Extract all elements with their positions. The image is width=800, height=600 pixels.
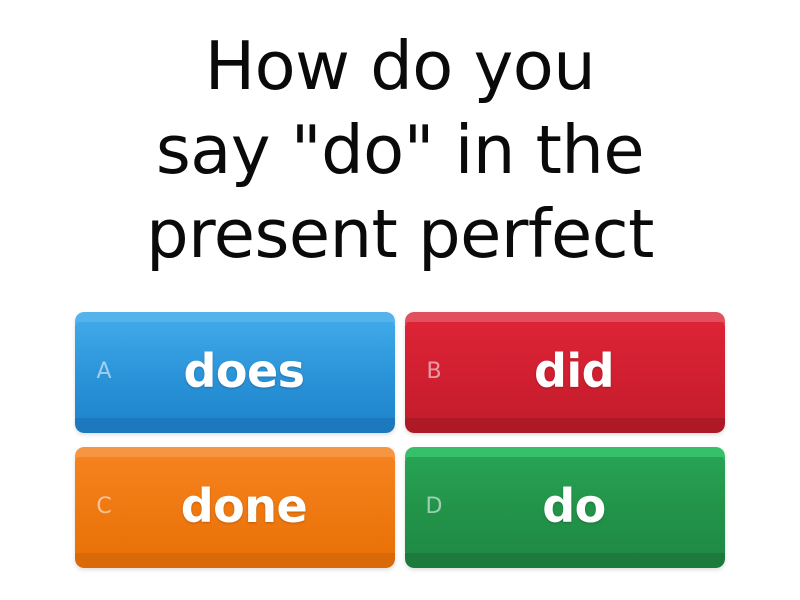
answer-d-label: do [463,482,725,530]
answer-c-letter: C [75,496,133,518]
answer-option-d[interactable]: D do [405,447,725,568]
answer-b-content: B did [405,322,725,421]
answer-a-letter: A [75,361,133,383]
answer-c-label: done [133,482,395,530]
answer-a-label: does [133,347,395,395]
answer-c-content: C done [75,457,395,556]
question-area: How do you say "do" in the present perfe… [0,0,800,300]
answer-b-letter: B [405,361,463,383]
answer-b-label: did [463,347,725,395]
answer-options-grid: A does B did C done [75,312,725,568]
answer-d-content: D do [405,457,725,556]
answer-d-letter: D [405,496,463,518]
answer-option-b[interactable]: B did [405,312,725,433]
quiz-card: How do you say "do" in the present perfe… [0,0,800,600]
answer-option-c[interactable]: C done [75,447,395,568]
answer-option-a[interactable]: A does [75,312,395,433]
answer-a-content: A does [75,322,395,421]
question-text: How do you say "do" in the present perfe… [100,24,700,276]
